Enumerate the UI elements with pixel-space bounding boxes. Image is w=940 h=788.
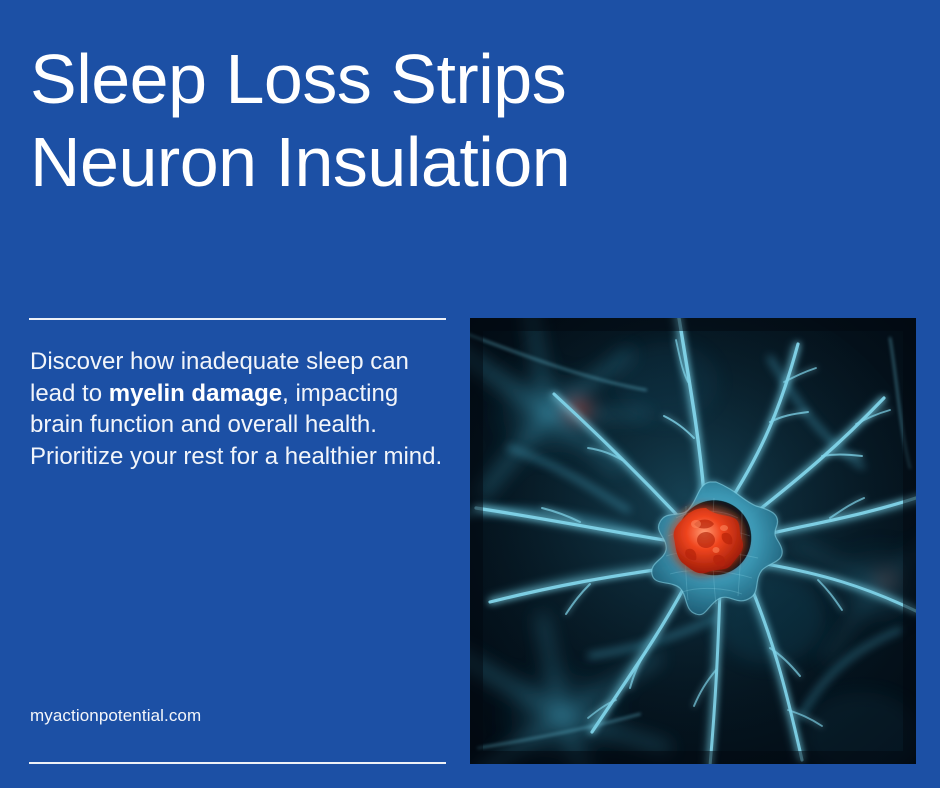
divider-top (29, 318, 446, 320)
poster-canvas: Sleep Loss Strips Neuron Insulation Disc… (0, 0, 940, 788)
neuron-illustration (470, 318, 916, 764)
site-url: myactionpotential.com (30, 706, 201, 726)
left-content-column: Discover how inadequate sleep can lead t… (29, 318, 446, 764)
page-title: Sleep Loss Strips Neuron Insulation (30, 38, 770, 203)
divider-bottom (29, 762, 446, 764)
neuron-image (470, 318, 916, 764)
body-emphasis: myelin damage (109, 380, 282, 407)
body-description: Discover how inadequate sleep can lead t… (30, 346, 446, 472)
